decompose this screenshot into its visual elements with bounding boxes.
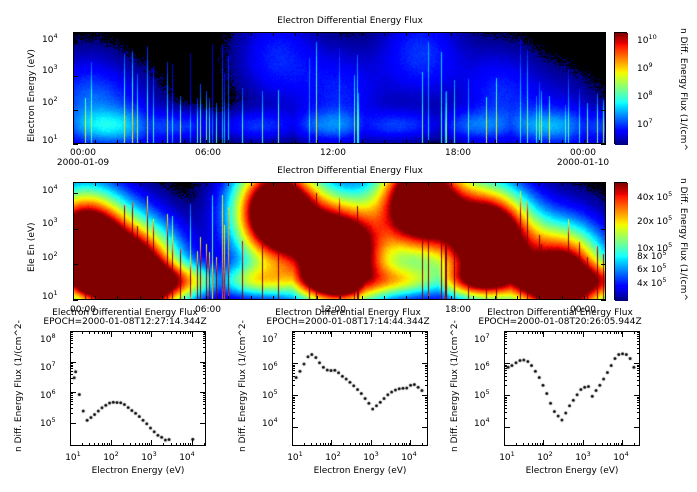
panel2-ylabel: Ele En (eV) [27, 222, 37, 272]
panel1-cbtick-1: 109 [637, 61, 653, 74]
panel2-cbtick-5: 4x 105 [637, 276, 667, 289]
panel1-colorbar-ticks [627, 32, 635, 144]
panel3-ylabel: n Diff. Energy Flux (1/(cm^2- [14, 320, 24, 452]
panel5-subtitle: EPOCH=2000-01-08T20:26:05.944Z [455, 317, 665, 327]
panel2-cbtick-1: 20x 105 [637, 214, 672, 227]
panel5-xlabel: Electron Energy (eV) [502, 466, 642, 476]
panel3-ytick-0: 108 [40, 332, 56, 345]
panel1-xdate-4: 2000-01-10 [548, 158, 618, 168]
panel1-title: Electron Differential Energy Flux [180, 16, 520, 26]
panel1-xtick-3: 18:00 [428, 148, 488, 158]
panel4-ytick-1: 106 [262, 360, 278, 373]
panel3-xtick-1: 102 [96, 450, 126, 463]
panel3-ytick-3: 105 [40, 416, 56, 429]
panel3-xtick-2: 103 [134, 450, 164, 463]
panel3-ytick-2: 106 [40, 388, 56, 401]
panel3-ytick-1: 107 [40, 360, 56, 373]
panel4-xtick-3: 104 [394, 450, 424, 463]
panel5-xtick-0: 101 [492, 450, 522, 463]
panel1-colorbar [614, 32, 627, 144]
panel5-ytick-1: 106 [474, 360, 490, 373]
panel3-xlabel: Electron Energy (eV) [68, 466, 208, 476]
panel5-xtick-3: 104 [606, 450, 636, 463]
panel2-cbtick-0: 40x 105 [637, 190, 672, 203]
panel4-xtick-0: 101 [280, 450, 310, 463]
panel5-ylabel: n Diff. Energy Flux (1/(cm^2- [450, 320, 460, 452]
panel1-xtick-0: 00:00 [53, 148, 113, 158]
panel2-colorbar-ticks [627, 182, 635, 300]
panel2-ytick-3: 101 [42, 289, 58, 302]
panel2-colorbar [614, 182, 627, 300]
panel5-ytick-3: 104 [474, 416, 490, 429]
panel2-title: Electron Differential Energy Flux [180, 166, 520, 176]
panel2-cbtick-4: 6x 105 [637, 262, 667, 275]
panel4-ytick-2: 105 [262, 388, 278, 401]
panel1-ytick-3: 101 [42, 133, 58, 146]
panel2-ytick-0: 104 [42, 183, 58, 196]
panel5-xtick-1: 102 [530, 450, 560, 463]
panel3-subtitle: EPOCH=2000-01-08T12:27:14.344Z [10, 317, 240, 327]
panel1-cbtick-0: 1010 [637, 33, 657, 46]
panel3-xtick-0: 101 [58, 450, 88, 463]
panel1-colorbar-label: n Diff. Energy Flux (1/(cm^ [678, 28, 688, 151]
panel4-xtick-2: 103 [356, 450, 386, 463]
panel2-spectrogram[interactable] [73, 182, 606, 300]
panel4-ytick-0: 107 [262, 332, 278, 345]
panel4-plot[interactable] [292, 331, 428, 446]
panel2-cbtick-3: 8x 105 [637, 249, 667, 262]
panel4-ytick-3: 104 [262, 416, 278, 429]
panel1-xtick-2: 12:00 [303, 148, 363, 158]
panel1-xdate-0: 2000-01-09 [48, 158, 118, 168]
panel4-subtitle: EPOCH=2000-01-08T17:14:44.344Z [243, 317, 453, 327]
panel1-ytick-2: 102 [42, 95, 58, 108]
panel5-ytick-2: 105 [474, 388, 490, 401]
panel1-xtick-1: 06:00 [178, 148, 238, 158]
panel4-ylabel: n Diff. Energy Flux (1/(cm^2- [238, 320, 248, 452]
panel4-xtick-1: 102 [318, 450, 348, 463]
panel1-ytick-1: 103 [42, 63, 58, 76]
panel5-xtick-2: 103 [568, 450, 598, 463]
panel2-ytick-2: 102 [42, 250, 58, 263]
panel2-colorbar-label: n Diff. Energy Flux (1/(cm^ [678, 178, 688, 301]
panel1-cbtick-2: 108 [637, 89, 653, 102]
panel1-cbtick-3: 107 [637, 117, 653, 130]
panel5-plot[interactable] [504, 331, 640, 446]
panel5-ytick-0: 107 [474, 332, 490, 345]
panel1-xtick-4: 00:00 [553, 148, 613, 158]
panel4-xlabel: Electron Energy (eV) [290, 466, 430, 476]
panel1-ytick-0: 104 [42, 32, 58, 45]
panel2-ytick-1: 103 [42, 216, 58, 229]
panel3-plot[interactable] [70, 331, 206, 446]
panel3-xtick-3: 104 [172, 450, 202, 463]
panel1-ylabel: Electron Energy (eV) [27, 49, 37, 142]
panel1-spectrogram[interactable] [73, 32, 606, 144]
